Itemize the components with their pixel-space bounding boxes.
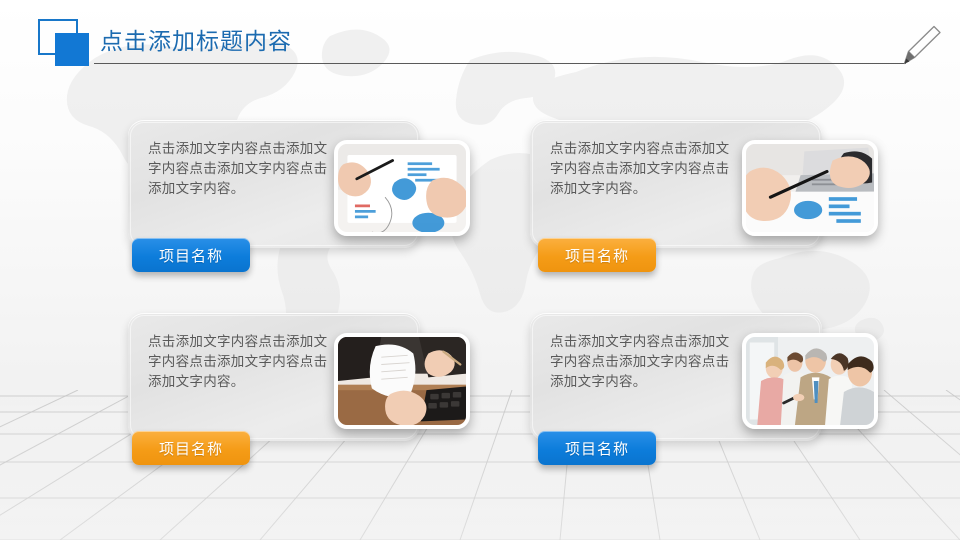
card-body-text: 点击添加文字内容点击添加文字内容点击添加文字内容点击添加文字内容。	[148, 332, 338, 392]
pencil-icon	[893, 20, 941, 68]
card-body-text: 点击添加文字内容点击添加文字内容点击添加文字内容点击添加文字内容。	[550, 332, 740, 392]
project-label-text: 项目名称	[565, 438, 629, 459]
project-label-text: 项目名称	[565, 245, 629, 266]
project-label-button[interactable]: 项目名称	[538, 238, 656, 272]
photo-laptop-pen	[742, 140, 878, 236]
card-body-text: 点击添加文字内容点击添加文字内容点击添加文字内容点击添加文字内容。	[550, 139, 740, 199]
page-title: 点击添加标题内容	[100, 27, 292, 55]
card-body-text: 点击添加文字内容点击添加文字内容点击添加文字内容点击添加文字内容。	[148, 139, 338, 199]
slide-canvas: 点击添加标题内容 点击添加文字内容点击添加文字内容点击添加文字内容点击添加文字内…	[0, 0, 960, 540]
project-label-text: 项目名称	[159, 245, 223, 266]
photo-hands-charts	[334, 140, 470, 236]
project-label-button[interactable]: 项目名称	[132, 431, 250, 465]
project-label-button[interactable]: 项目名称	[132, 238, 250, 272]
title-divider	[94, 63, 906, 64]
square-filled-icon	[55, 33, 89, 66]
project-label-button[interactable]: 项目名称	[538, 431, 656, 465]
project-label-text: 项目名称	[159, 438, 223, 459]
photo-business-team	[742, 333, 878, 429]
header: 点击添加标题内容	[0, 0, 960, 80]
photo-keyboard-documents	[334, 333, 470, 429]
